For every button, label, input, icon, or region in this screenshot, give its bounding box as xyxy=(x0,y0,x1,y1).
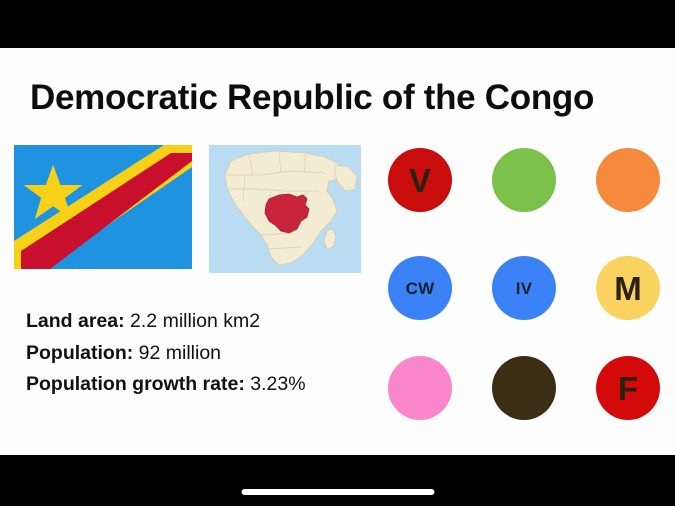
country-facts-list: Land area: 2.2 million km2 Population: 9… xyxy=(26,306,376,401)
fact-population-label: Population: xyxy=(26,342,133,364)
circle-f-label: F xyxy=(618,372,638,405)
fact-population: Population: 92 million xyxy=(26,338,376,370)
map-svg xyxy=(209,145,361,273)
icon-circle-row: F xyxy=(388,356,660,420)
circle-cw-label: CW xyxy=(406,280,435,297)
fact-population-value: 92 million xyxy=(139,342,221,364)
fact-land-area-label: Land area: xyxy=(26,310,125,332)
fact-land-area-value: 2.2 million km2 xyxy=(130,310,260,332)
circle-pink[interactable] xyxy=(388,356,452,420)
fact-population-growth-rate: Population growth rate: 3.23% xyxy=(26,369,376,401)
device-home-bar-area xyxy=(0,455,675,506)
circle-orange[interactable] xyxy=(596,148,660,212)
flag-image xyxy=(14,145,192,269)
circle-v[interactable]: V xyxy=(388,148,452,212)
circle-green[interactable] xyxy=(492,148,556,212)
fact-land-area: Land area: 2.2 million km2 xyxy=(26,306,376,338)
flag-svg xyxy=(14,145,192,269)
circle-cw[interactable]: CW xyxy=(388,256,452,320)
home-indicator[interactable] xyxy=(241,489,434,495)
circle-m[interactable]: M xyxy=(596,256,660,320)
page-title: Democratic Republic of the Congo xyxy=(30,80,650,117)
icon-circle-grid: V CW IV M xyxy=(388,148,660,428)
circle-iv-label: IV xyxy=(516,280,532,297)
icon-circle-row: CW IV M xyxy=(388,256,660,320)
fact-population-growth-rate-value: 3.23% xyxy=(250,373,305,395)
phone-screen: Democratic Republic of the Congo xyxy=(0,0,675,506)
map-image xyxy=(209,145,361,273)
circle-brown[interactable] xyxy=(492,356,556,420)
circle-v-label: V xyxy=(409,164,431,197)
circle-iv[interactable]: IV xyxy=(492,256,556,320)
fact-population-growth-rate-label: Population growth rate: xyxy=(26,373,245,395)
circle-f[interactable]: F xyxy=(596,356,660,420)
device-status-bar xyxy=(0,0,675,48)
circle-m-label: M xyxy=(614,272,642,305)
presentation-slide[interactable]: Democratic Republic of the Congo xyxy=(0,48,675,455)
icon-circle-row: V xyxy=(388,148,660,212)
